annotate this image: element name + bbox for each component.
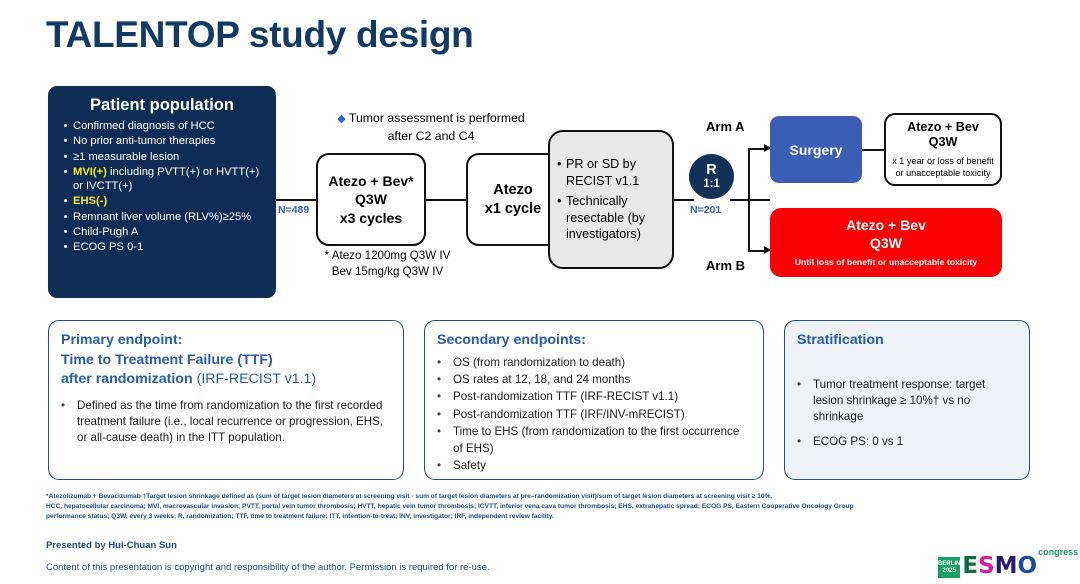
induction-line1: Atezo + Bev* bbox=[328, 172, 413, 191]
connector-resectability-to-randomization bbox=[672, 199, 694, 201]
stratification-item-0: Tumor treatment response: target lesion … bbox=[813, 377, 1017, 426]
bullet-icon: • bbox=[58, 134, 73, 148]
list-item: •Post-randomization TTF (IRF/INV-mRECIST… bbox=[437, 407, 751, 423]
bullet-icon: • bbox=[437, 372, 453, 388]
stratification-item-1: ECOG PS: 0 vs 1 bbox=[813, 434, 1017, 450]
dose-line1: * Atezo 1200mg Q3W IV bbox=[300, 248, 475, 264]
arm-b-heading: Atezo + Bev Q3W bbox=[846, 217, 926, 252]
patient-population-heading: Patient population bbox=[58, 96, 266, 115]
year-label: 2025 bbox=[942, 568, 955, 575]
list-item: • ECOG PS 0-1 bbox=[58, 240, 266, 254]
bullet-icon: • bbox=[58, 210, 73, 224]
maintenance-treatment-box: Atezo + Bev Q3W x 1 year or loss of bene… bbox=[884, 113, 1002, 186]
maintenance-line1: Atezo + Bev bbox=[907, 120, 979, 136]
bullet-icon: • bbox=[797, 377, 813, 426]
connector-population-to-induction bbox=[276, 199, 318, 201]
list-item: •Safety bbox=[437, 458, 751, 474]
primary-endpoint-heading: Primary endpoint: Time to Treatment Fail… bbox=[61, 331, 391, 390]
bullet-icon: • bbox=[557, 156, 566, 189]
induction-line2: Q3W bbox=[355, 190, 387, 209]
esmo-congress-logo: BERLIN 2025 E S M O congress bbox=[938, 548, 1060, 578]
induction-line3: x3 cycles bbox=[340, 209, 402, 228]
consolidation-treatment-box: Atezo x1 cycle bbox=[466, 153, 560, 246]
maintenance-heading: Atezo + Bev Q3W bbox=[907, 120, 979, 151]
esmo-letter-s: S bbox=[978, 555, 995, 578]
randomization-label: R bbox=[706, 163, 716, 177]
congress-label: congress bbox=[1038, 547, 1078, 557]
esmo-letter-e: E bbox=[962, 555, 978, 578]
bullet-icon: • bbox=[58, 225, 73, 239]
arm-b-label: Arm B bbox=[706, 258, 745, 273]
bullet-icon: • bbox=[58, 194, 73, 208]
primary-heading-line2: Time to Treatment Failure (TTF) bbox=[61, 351, 391, 371]
list-item-label: ECOG PS 0-1 bbox=[73, 240, 266, 254]
secondary-item-4: Time to EHS (from randomization to the f… bbox=[453, 424, 751, 457]
patient-population-box: Patient population • Confirmed diagnosis… bbox=[48, 86, 276, 298]
resectability-item-1: Technically resectable (by investigators… bbox=[566, 193, 665, 242]
dose-footnote: * Atezo 1200mg Q3W IV Bev 15mg/kg Q3W IV bbox=[300, 248, 475, 280]
arm-b-line1: Atezo + Bev bbox=[846, 217, 926, 235]
list-item-label: Remnant liver volume (RLV%)≥25% bbox=[73, 210, 266, 224]
highlight-mvi: MVI(+) bbox=[73, 166, 107, 178]
list-item: • No prior anti-tumor therapies bbox=[58, 134, 266, 148]
connector-split-vertical bbox=[748, 148, 750, 252]
list-item: •Post-randomization TTF (IRF-RECIST v1.1… bbox=[437, 389, 751, 405]
randomization-node: R 1:1 bbox=[689, 154, 734, 199]
esmo-letter-m: M bbox=[995, 555, 1018, 578]
list-item: •OS (from randomization to death) bbox=[437, 355, 751, 371]
surgery-box: Surgery bbox=[770, 116, 862, 183]
secondary-item-5: Safety bbox=[453, 458, 751, 474]
resectability-criteria-box: • PR or SD by RECIST v1.1 • Technically … bbox=[548, 130, 674, 269]
list-item-label: Child-Pugh A bbox=[73, 225, 266, 239]
secondary-endpoints-panel: Secondary endpoints: •OS (from randomiza… bbox=[424, 320, 764, 480]
arm-a-label: Arm A bbox=[706, 119, 745, 134]
list-item: • Remnant liver volume (RLV%)≥25% bbox=[58, 210, 266, 224]
stratification-heading: Stratification bbox=[797, 331, 1017, 351]
randomization-ratio: 1:1 bbox=[703, 177, 720, 191]
list-item: • Technically resectable (by investigato… bbox=[557, 193, 665, 242]
footnote-line-1: *Atezolizumab + Bevacizumab †Target lesi… bbox=[46, 492, 1036, 502]
list-item-label: MVI(+) including PVTT(+) or HVTT(+) or I… bbox=[73, 165, 266, 194]
primary-heading-line3-reg: (IRF-RECIST v1.1) bbox=[193, 371, 317, 387]
bullet-icon: • bbox=[437, 389, 453, 405]
primary-item-0: Defined as the time from randomization t… bbox=[77, 398, 391, 447]
n-randomized-label: N=201 bbox=[690, 204, 721, 216]
list-item-label: Confirmed diagnosis of HCC bbox=[73, 119, 266, 133]
secondary-item-0: OS (from randomization to death) bbox=[453, 355, 751, 371]
list-item: • PR or SD by RECIST v1.1 bbox=[557, 156, 665, 189]
list-item-label: ≥1 measurable lesion bbox=[73, 150, 266, 164]
resectability-item-0: PR or SD by RECIST v1.1 bbox=[566, 156, 665, 189]
footnote-line-2: HCC, hepatocellular carcinoma; MVI, macr… bbox=[46, 502, 1036, 512]
list-item: •Time to EHS (from randomization to the … bbox=[437, 424, 751, 457]
maintenance-sub2: or unacceptable toxicity bbox=[892, 167, 994, 179]
bullet-icon: • bbox=[58, 165, 73, 194]
connector-induction-to-consolidation bbox=[424, 199, 468, 201]
primary-heading-line3: after randomization (IRF-RECIST v1.1) bbox=[61, 370, 391, 390]
bullet-icon: • bbox=[557, 193, 566, 242]
arm-b-treatment-box: Atezo + Bev Q3W Until loss of benefit or… bbox=[770, 208, 1002, 277]
arm-b-subtext: Until loss of benefit or unacceptable to… bbox=[795, 257, 977, 268]
page-title: TALENTOP study design bbox=[46, 14, 473, 56]
bullet-icon: • bbox=[58, 150, 73, 164]
esmo-letter-o: O bbox=[1018, 555, 1038, 578]
secondary-item-2: Post-randomization TTF (IRF-RECIST v1.1) bbox=[453, 389, 751, 405]
tumor-assessment-note: ◆ Tumor assessment is performed after C2… bbox=[336, 110, 526, 144]
copyright-notice: Content of this presentation is copyrigh… bbox=[46, 562, 490, 573]
primary-heading-line3-bold: after randomization bbox=[61, 371, 193, 387]
n-enrolled-label: N=489 bbox=[278, 204, 309, 216]
list-item: • Defined as the time from randomization… bbox=[61, 398, 391, 447]
list-item: •Tumor treatment response: target lesion… bbox=[797, 377, 1017, 426]
primary-heading-line1: Primary endpoint: bbox=[61, 331, 391, 351]
list-item: • Confirmed diagnosis of HCC bbox=[58, 119, 266, 133]
maintenance-subtext: x 1 year or loss of benefit or unaccepta… bbox=[892, 155, 994, 179]
maintenance-sub1: x 1 year or loss of benefit bbox=[892, 155, 994, 167]
bullet-icon: • bbox=[58, 240, 73, 254]
consolidation-line1: Atezo bbox=[493, 181, 532, 200]
secondary-item-3: Post-randomization TTF (IRF/INV-mRECIST) bbox=[453, 407, 751, 423]
consolidation-line2: x1 cycle bbox=[485, 200, 541, 219]
footnotes: *Atezolizumab + Bevacizumab †Target lesi… bbox=[46, 492, 1036, 523]
bullet-icon: • bbox=[61, 398, 77, 447]
arm-b-line2: Q3W bbox=[846, 235, 926, 253]
list-item: • ≥1 measurable lesion bbox=[58, 150, 266, 164]
list-item: • MVI(+) including PVTT(+) or HVTT(+) or… bbox=[58, 165, 266, 194]
list-item-label: No prior anti-tumor therapies bbox=[73, 134, 266, 148]
secondary-item-1: OS rates at 12, 18, and 24 months bbox=[453, 372, 751, 388]
tumor-assessment-text: Tumor assessment is performed after C2 a… bbox=[349, 111, 525, 143]
dose-line2: Bev 15mg/kg Q3W IV bbox=[300, 264, 475, 280]
bullet-icon: • bbox=[437, 424, 453, 457]
bullet-icon: • bbox=[437, 458, 453, 474]
bullet-icon: • bbox=[797, 434, 813, 450]
bullet-icon: • bbox=[437, 407, 453, 423]
list-item: •OS rates at 12, 18, and 24 months bbox=[437, 372, 751, 388]
berlin-2025-badge: BERLIN 2025 bbox=[938, 557, 960, 578]
maintenance-line2: Q3W bbox=[907, 135, 979, 151]
primary-endpoint-panel: Primary endpoint: Time to Treatment Fail… bbox=[48, 320, 404, 480]
bullet-icon: • bbox=[437, 355, 453, 371]
diamond-bullet-icon: ◆ bbox=[337, 113, 345, 125]
presented-by: Presented by Hui-Chuan Sun bbox=[46, 540, 177, 551]
connector-surgery-to-maintenance bbox=[862, 149, 886, 151]
highlight-ehs: EHS(-) bbox=[73, 194, 266, 208]
secondary-endpoints-heading: Secondary endpoints: bbox=[437, 331, 751, 351]
list-item: • Child-Pugh A bbox=[58, 225, 266, 239]
list-item: • EHS(-) bbox=[58, 194, 266, 208]
footnote-line-3: performance status; Q3W, every 3 weeks; … bbox=[46, 512, 1036, 522]
list-item: •ECOG PS: 0 vs 1 bbox=[797, 434, 1017, 450]
stratification-panel: Stratification •Tumor treatment response… bbox=[784, 320, 1030, 480]
berlin-label: BERLIN bbox=[938, 561, 960, 568]
bullet-icon: • bbox=[58, 119, 73, 133]
induction-treatment-box: Atezo + Bev* Q3W x3 cycles bbox=[316, 153, 426, 246]
